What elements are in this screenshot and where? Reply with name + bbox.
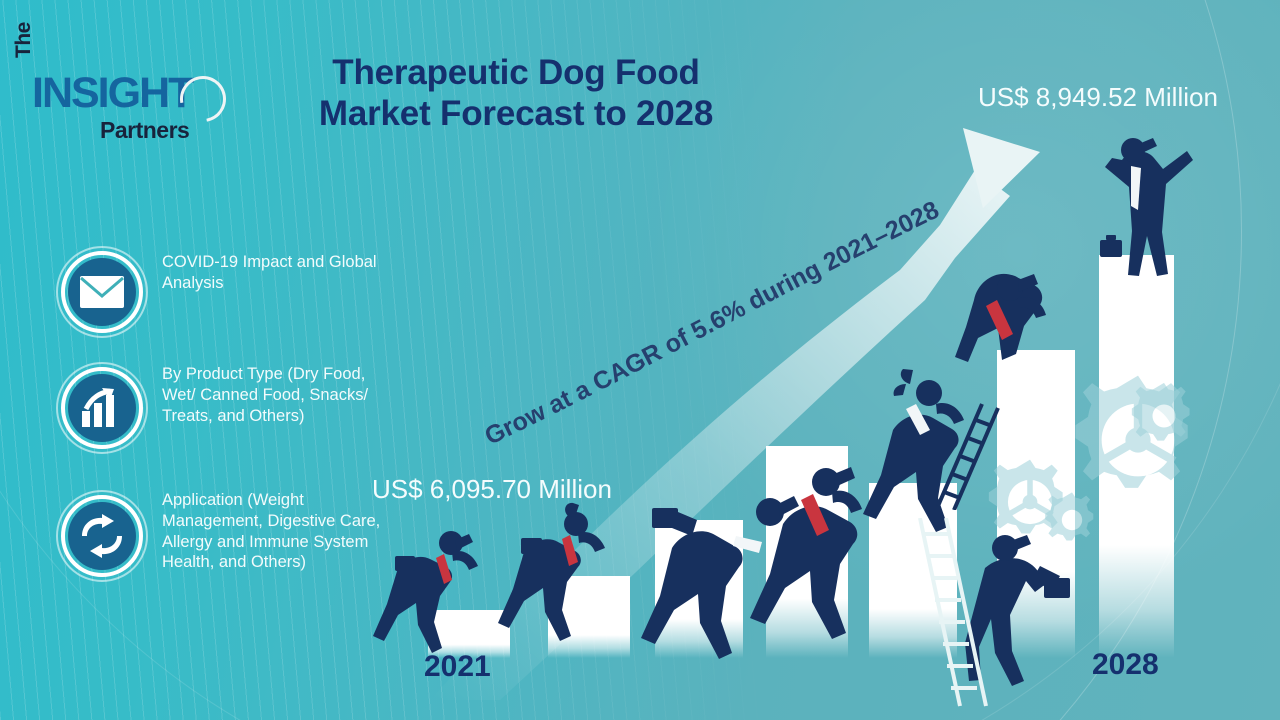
ladder-to-top [930, 400, 1010, 510]
figure-celebrating [1100, 138, 1193, 276]
figure-runner-1 [373, 531, 478, 653]
figure-runner-2 [498, 503, 605, 641]
axis-label-end-year: 2028 [1092, 648, 1159, 682]
ladder-standing [908, 518, 998, 708]
infographic-canvas: The INSIGHT Partners Therapeutic Dog Foo… [0, 0, 1280, 720]
value-label-start: US$ 6,095.70 Million [372, 474, 612, 505]
value-label-end: US$ 8,949.52 Million [978, 82, 1218, 113]
figure-runner-4 [750, 467, 862, 639]
axis-label-start-year: 2021 [424, 650, 491, 684]
figure-climber-top [955, 274, 1046, 362]
